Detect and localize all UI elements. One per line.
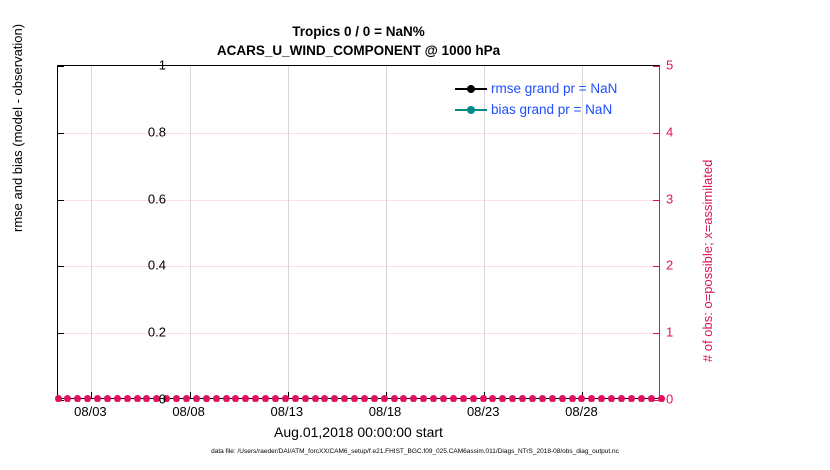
x-axis-tick bbox=[288, 392, 289, 398]
obs-assimilated-marker bbox=[430, 395, 437, 402]
obs-possible-marker bbox=[460, 395, 467, 402]
obs-possible-marker bbox=[341, 395, 348, 402]
obs-assimilated-marker bbox=[519, 395, 526, 402]
obs-possible-marker bbox=[608, 395, 615, 402]
y-axis-right-tick bbox=[653, 333, 659, 334]
obs-possible-marker bbox=[193, 395, 200, 402]
obs-assimilated-marker bbox=[331, 395, 338, 402]
obs-assimilated-marker bbox=[94, 395, 101, 402]
obs-assimilated-marker bbox=[509, 395, 516, 402]
obs-assimilated-marker bbox=[628, 395, 635, 402]
obs-assimilated-marker bbox=[351, 395, 358, 402]
obs-possible-marker bbox=[598, 395, 605, 402]
obs-possible-marker bbox=[252, 395, 259, 402]
obs-possible-marker bbox=[292, 395, 299, 402]
obs-possible-marker bbox=[499, 395, 506, 402]
chart-title-block: Tropics 0 / 0 = NaN% ACARS_U_WIND_COMPON… bbox=[57, 22, 660, 60]
obs-possible-marker bbox=[371, 395, 378, 402]
obs-assimilated-marker bbox=[539, 395, 546, 402]
obs-assimilated-marker bbox=[450, 395, 457, 402]
obs-assimilated-marker bbox=[292, 395, 299, 402]
x-axis-tick bbox=[386, 392, 387, 398]
obs-possible-marker bbox=[351, 395, 358, 402]
y-axis-right-tick bbox=[653, 400, 659, 401]
obs-assimilated-marker bbox=[134, 395, 141, 402]
gridline-vertical bbox=[190, 66, 191, 398]
obs-possible-marker bbox=[539, 395, 546, 402]
obs-assimilated-marker bbox=[420, 395, 427, 402]
obs-possible-marker bbox=[173, 395, 180, 402]
obs-assimilated-marker bbox=[361, 395, 368, 402]
obs-possible-marker bbox=[74, 395, 81, 402]
obs-possible-marker bbox=[361, 395, 368, 402]
y-axis-right-tick bbox=[653, 266, 659, 267]
obs-possible-marker bbox=[302, 395, 309, 402]
obs-possible-marker bbox=[391, 395, 398, 402]
obs-assimilated-marker bbox=[312, 395, 319, 402]
obs-assimilated-marker bbox=[193, 395, 200, 402]
y-axis-left-tick bbox=[58, 400, 64, 401]
obs-possible-marker bbox=[242, 395, 249, 402]
obs-possible-marker bbox=[440, 395, 447, 402]
chart-legend: rmse grand pr = NaN bias grand pr = NaN bbox=[455, 78, 655, 120]
obs-assimilated-marker bbox=[440, 395, 447, 402]
obs-assimilated-marker bbox=[391, 395, 398, 402]
y-axis-right-tick-label: 2 bbox=[666, 258, 673, 273]
y-axis-left-tick bbox=[58, 200, 64, 201]
obs-possible-marker bbox=[94, 395, 101, 402]
y-axis-right-tick-label: 3 bbox=[666, 191, 673, 206]
gridline-vertical bbox=[288, 66, 289, 398]
obs-assimilated-marker bbox=[272, 395, 279, 402]
obs-possible-marker bbox=[410, 395, 417, 402]
obs-assimilated-marker bbox=[618, 395, 625, 402]
obs-possible-marker bbox=[470, 395, 477, 402]
obs-assimilated-marker bbox=[262, 395, 269, 402]
obs-assimilated-marker bbox=[529, 395, 536, 402]
y-axis-left-tick-label: 0.6 bbox=[148, 191, 166, 206]
obs-possible-marker bbox=[143, 395, 150, 402]
obs-possible-marker bbox=[638, 395, 645, 402]
obs-assimilated-marker bbox=[223, 395, 230, 402]
x-axis-title: Aug.01,2018 00:00:00 start bbox=[57, 424, 660, 440]
obs-assimilated-marker bbox=[64, 395, 71, 402]
obs-possible-marker bbox=[559, 395, 566, 402]
gridline-vertical bbox=[91, 66, 92, 398]
chart-subtitle: ACARS_U_WIND_COMPONENT @ 1000 hPa bbox=[57, 41, 660, 60]
obs-assimilated-marker bbox=[84, 395, 91, 402]
obs-assimilated-marker bbox=[302, 395, 309, 402]
y-axis-right-tick-label: 0 bbox=[666, 392, 673, 407]
y-axis-right-tick bbox=[653, 66, 659, 67]
x-axis-tick-label: 08/18 bbox=[369, 404, 402, 419]
obs-assimilated-marker bbox=[203, 395, 210, 402]
obs-assimilated-marker bbox=[104, 395, 111, 402]
x-axis-tick bbox=[582, 392, 583, 398]
obs-possible-marker bbox=[519, 395, 526, 402]
obs-assimilated-marker bbox=[410, 395, 417, 402]
y-axis-left-title: rmse and bias (model - observation) bbox=[10, 215, 25, 232]
obs-possible-marker bbox=[489, 395, 496, 402]
legend-item-rmse: rmse grand pr = NaN bbox=[455, 78, 655, 99]
obs-assimilated-marker bbox=[114, 395, 121, 402]
y-axis-left-tick bbox=[58, 333, 64, 334]
obs-possible-marker bbox=[114, 395, 121, 402]
obs-possible-marker bbox=[509, 395, 516, 402]
y-axis-left-tick-label: 0.2 bbox=[148, 325, 166, 340]
legend-item-bias: bias grand pr = NaN bbox=[455, 99, 655, 120]
y-axis-right-title: # of obs: o=possible; x=assimilated bbox=[700, 160, 715, 362]
y-axis-right-tick-label: 1 bbox=[666, 325, 673, 340]
obs-possible-marker bbox=[618, 395, 625, 402]
y-axis-right-tick-label: 5 bbox=[666, 58, 673, 73]
legend-swatch-rmse-icon bbox=[455, 82, 487, 96]
legend-swatch-bias-icon bbox=[455, 103, 487, 117]
y-axis-left-tick-label: 0 bbox=[159, 392, 166, 407]
y-axis-left-tick bbox=[58, 66, 64, 67]
obs-assimilated-marker bbox=[559, 395, 566, 402]
x-axis-tick-label: 08/13 bbox=[271, 404, 304, 419]
obs-possible-marker bbox=[549, 395, 556, 402]
obs-assimilated-marker bbox=[371, 395, 378, 402]
obs-assimilated-marker bbox=[608, 395, 615, 402]
legend-label-rmse: rmse grand pr = NaN bbox=[491, 81, 617, 96]
y-axis-left-tick-label: 1 bbox=[159, 58, 166, 73]
legend-label-bias: bias grand pr = NaN bbox=[491, 102, 612, 117]
obs-possible-marker bbox=[312, 395, 319, 402]
obs-assimilated-marker bbox=[173, 395, 180, 402]
obs-possible-marker bbox=[262, 395, 269, 402]
x-axis-tick bbox=[484, 392, 485, 398]
x-axis-tick-label: 08/08 bbox=[172, 404, 205, 419]
obs-possible-marker bbox=[628, 395, 635, 402]
obs-possible-marker bbox=[272, 395, 279, 402]
y-axis-right-tick bbox=[653, 133, 659, 134]
obs-possible-marker bbox=[400, 395, 407, 402]
obs-assimilated-marker bbox=[213, 395, 220, 402]
obs-assimilated-marker bbox=[124, 395, 131, 402]
x-axis-tick bbox=[190, 392, 191, 398]
obs-possible-marker bbox=[134, 395, 141, 402]
obs-assimilated-marker bbox=[400, 395, 407, 402]
y-axis-left-tick-label: 0.8 bbox=[148, 124, 166, 139]
x-axis-tick-label: 08/28 bbox=[565, 404, 598, 419]
obs-possible-marker bbox=[321, 395, 328, 402]
x-axis-tick-label: 08/23 bbox=[467, 404, 500, 419]
obs-assimilated-marker bbox=[252, 395, 259, 402]
data-file-caption: data file: /Users/raeder/DAI/ATM_forcXX/… bbox=[0, 448, 830, 455]
x-axis-tick bbox=[91, 392, 92, 398]
obs-possible-marker bbox=[331, 395, 338, 402]
obs-possible-marker bbox=[124, 395, 131, 402]
obs-assimilated-marker bbox=[242, 395, 249, 402]
obs-assimilated-marker bbox=[232, 395, 239, 402]
obs-possible-marker bbox=[203, 395, 210, 402]
obs-assimilated-marker bbox=[588, 395, 595, 402]
obs-assimilated-marker bbox=[460, 395, 467, 402]
y-axis-left-tick bbox=[58, 266, 64, 267]
obs-possible-marker bbox=[223, 395, 230, 402]
obs-possible-marker bbox=[64, 395, 71, 402]
obs-assimilated-marker bbox=[598, 395, 605, 402]
y-axis-right-tick-label: 4 bbox=[666, 124, 673, 139]
obs-possible-marker bbox=[450, 395, 457, 402]
obs-assimilated-marker bbox=[321, 395, 328, 402]
y-axis-left-tick-label: 0.4 bbox=[148, 258, 166, 273]
obs-assimilated-marker bbox=[470, 395, 477, 402]
obs-possible-marker bbox=[232, 395, 239, 402]
obs-assimilated-marker bbox=[480, 395, 487, 402]
obs-assimilated-marker bbox=[341, 395, 348, 402]
obs-possible-marker bbox=[529, 395, 536, 402]
obs-assimilated-marker bbox=[569, 395, 576, 402]
obs-possible-marker bbox=[104, 395, 111, 402]
obs-assimilated-marker bbox=[74, 395, 81, 402]
obs-possible-marker bbox=[420, 395, 427, 402]
x-axis-tick-label: 08/03 bbox=[74, 404, 107, 419]
chart-title: Tropics 0 / 0 = NaN% bbox=[57, 22, 660, 41]
chart-figure: Tropics 0 / 0 = NaN% ACARS_U_WIND_COMPON… bbox=[0, 0, 830, 470]
y-axis-left-tick bbox=[58, 133, 64, 134]
obs-assimilated-marker bbox=[499, 395, 506, 402]
obs-possible-marker bbox=[213, 395, 220, 402]
obs-assimilated-marker bbox=[549, 395, 556, 402]
obs-assimilated-marker bbox=[143, 395, 150, 402]
obs-possible-marker bbox=[569, 395, 576, 402]
obs-possible-marker bbox=[84, 395, 91, 402]
gridline-vertical bbox=[386, 66, 387, 398]
obs-possible-marker bbox=[480, 395, 487, 402]
obs-possible-marker bbox=[430, 395, 437, 402]
obs-assimilated-marker bbox=[489, 395, 496, 402]
y-axis-right-tick bbox=[653, 200, 659, 201]
obs-assimilated-marker bbox=[638, 395, 645, 402]
obs-possible-marker bbox=[588, 395, 595, 402]
